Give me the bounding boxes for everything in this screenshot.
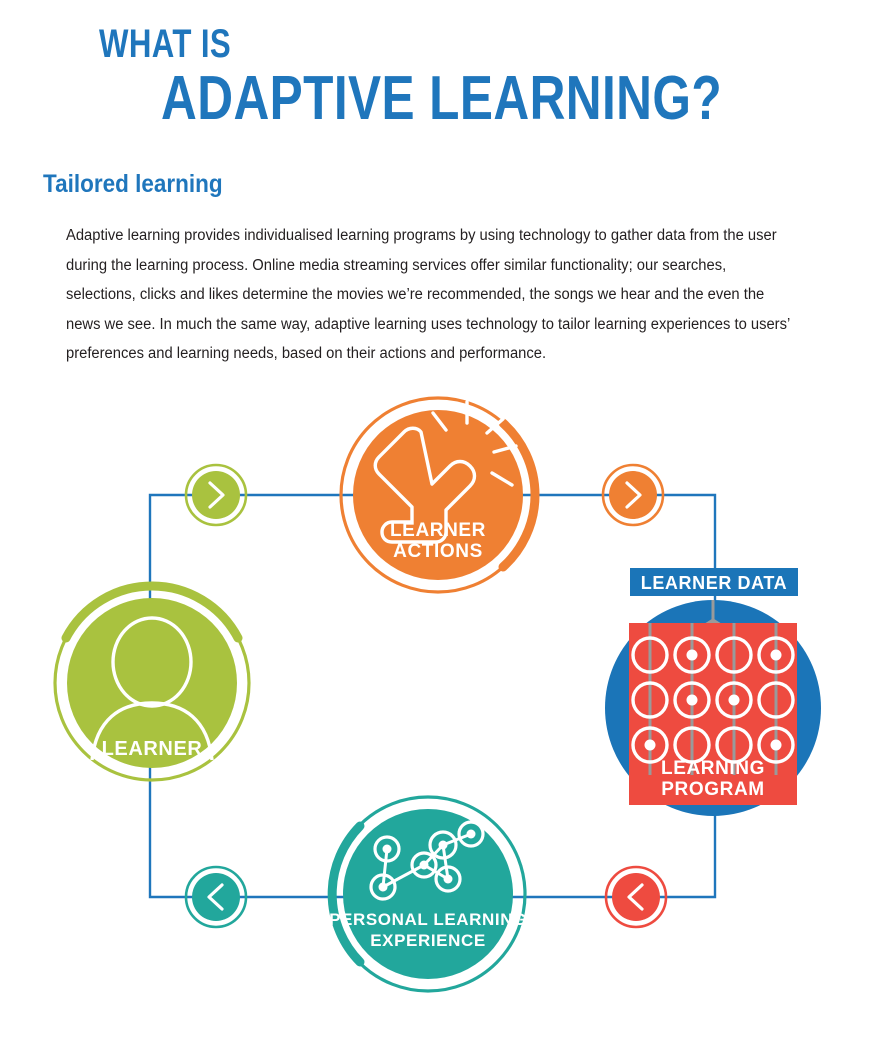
arrow-top-left[interactable]	[186, 465, 246, 525]
arrow-bottom-left-disc	[192, 873, 240, 921]
learner-label: LEARNER	[102, 738, 203, 760]
ple-label-line2: EXPERIENCE	[370, 931, 486, 950]
actions-label-line2: ACTIONS	[393, 541, 483, 562]
program-label-line1: LEARNING	[661, 758, 765, 779]
banner-label: LEARNER DATA	[641, 573, 788, 593]
arrow-top-left-disc	[192, 471, 240, 519]
ple-label-line1: PERSONAL LEARNING	[329, 910, 527, 929]
node-learner-actions[interactable]: LEARNER ACTIONS	[341, 398, 535, 592]
section-subheading: Tailored learning	[43, 170, 223, 198]
body-paragraph: Adaptive learning provides individualise…	[66, 221, 799, 369]
node-learner[interactable]: LEARNER	[55, 586, 249, 780]
adaptive-learning-cycle-diagram: LEARNER LEARNER ACTIONS	[0, 370, 880, 1010]
page-title-line2: ADAPTIVE LEARNING?	[161, 68, 722, 130]
infographic-page: WHAT IS ADAPTIVE LEARNING? Tailored lear…	[0, 0, 880, 1056]
arrow-bottom-right[interactable]	[606, 867, 666, 927]
node-learning-program[interactable]: LEARNING PROGRAM	[605, 600, 821, 816]
learner-data-banner: LEARNER DATA	[630, 568, 798, 596]
program-label-line2: PROGRAM	[661, 779, 764, 800]
actions-label-line1: LEARNER	[390, 520, 486, 541]
arrow-top-right-disc	[609, 471, 657, 519]
arrow-top-right[interactable]	[603, 465, 663, 525]
arrow-bottom-right-disc	[612, 873, 660, 921]
node-personal-learning-experience[interactable]: PERSONAL LEARNING EXPERIENCE	[329, 797, 527, 991]
ple-disc	[343, 809, 513, 979]
arrow-bottom-left[interactable]	[186, 867, 246, 927]
page-title-line1: WHAT IS	[99, 24, 231, 64]
